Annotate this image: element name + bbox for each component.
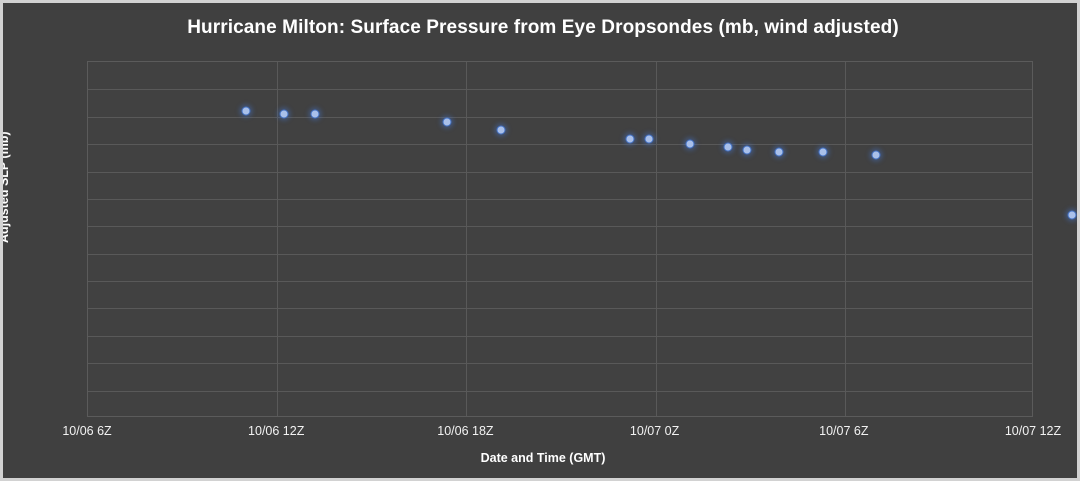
chart-container: Hurricane Milton: Surface Pressure from … (0, 0, 1080, 481)
x-axis-tick-labels: 10/06 6Z10/06 12Z10/06 18Z10/07 0Z10/07 … (3, 3, 1080, 481)
x-tick-label: 10/07 6Z (819, 424, 868, 438)
x-tick-label: 10/06 18Z (437, 424, 493, 438)
x-tick-label: 10/06 12Z (248, 424, 304, 438)
x-tick-label: 10/07 0Z (630, 424, 679, 438)
x-tick-label: 10/06 6Z (62, 424, 111, 438)
x-tick-label: 10/07 12Z (1005, 424, 1061, 438)
y-axis-title: Adjusted SLP (mb) (0, 131, 11, 243)
x-axis-title: Date and Time (GMT) (3, 451, 1080, 465)
